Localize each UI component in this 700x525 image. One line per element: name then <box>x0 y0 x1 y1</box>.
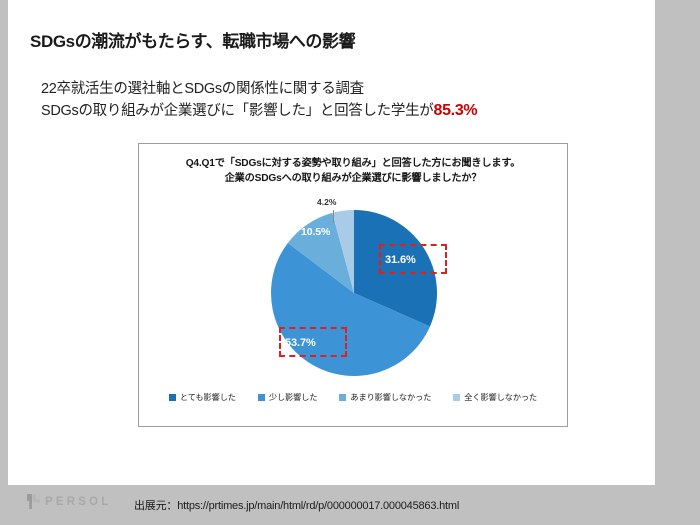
lead-paragraph: 22卒就活生の選社軸とSDGsの関係性に関する調査 SDGsの取り組みが企業選び… <box>41 78 477 122</box>
pie-label-1: 31.6% <box>385 254 416 266</box>
chart-legend: とても影響した少し影響したあまり影響しなかった全く影響しなかった <box>139 391 567 403</box>
persol-logo-text: PERSOL <box>45 496 112 508</box>
persol-logo-mark-icon <box>27 494 40 509</box>
legend-item[interactable]: とても影響した <box>169 391 236 403</box>
lead-line-2: SDGsの取り組みが企業選びに「影響した」と回答した学生が85.3% <box>41 100 477 122</box>
lead-highlight-value: 85.3% <box>433 102 477 119</box>
pie-leader-line-4 <box>333 210 334 223</box>
pie-label-3: 10.5% <box>301 226 330 238</box>
legend-label: 少し影響した <box>269 391 318 403</box>
lead-line-2-text: SDGsの取り組みが企業選びに「影響した」と回答した学生が <box>41 103 433 119</box>
pie-chart: 4.2% 10.5% 31.6% 53.7% <box>139 144 569 428</box>
source-url-text: 出展元：https://prtimes.jp/main/html/rd/p/00… <box>118 497 459 513</box>
legend-label: とても影響した <box>180 391 236 403</box>
chart-card: Q4.Q1で「SDGsに対する姿勢や取り組み」と回答した方にお聞きします。 企業… <box>138 143 568 427</box>
pie-label-4: 4.2% <box>317 197 336 207</box>
legend-item[interactable]: あまり影響しなかった <box>339 391 431 403</box>
legend-item[interactable]: 少し影響した <box>258 391 318 403</box>
slide-canvas: SDGsの潮流がもたらす、転職市場への影響 22卒就活生の選社軸とSDGsの関係… <box>8 0 655 485</box>
legend-swatch-icon <box>339 394 346 401</box>
legend-swatch-icon <box>169 394 176 401</box>
source-bar: 出展元：https://prtimes.jp/main/html/rd/p/00… <box>118 490 700 520</box>
legend-swatch-icon <box>258 394 265 401</box>
legend-label: 全く影響しなかった <box>464 391 537 403</box>
legend-label: あまり影響しなかった <box>350 391 431 403</box>
persol-logo: PERSOL <box>27 494 112 509</box>
legend-swatch-icon <box>453 394 460 401</box>
pie-label-2: 53.7% <box>285 337 316 349</box>
legend-item[interactable]: 全く影響しなかった <box>453 391 537 403</box>
lead-line-1: 22卒就活生の選社軸とSDGsの関係性に関する調査 <box>41 78 477 100</box>
page-title: SDGsの潮流がもたらす、転職市場への影響 <box>30 27 355 52</box>
pie-chart-svg <box>139 144 569 428</box>
